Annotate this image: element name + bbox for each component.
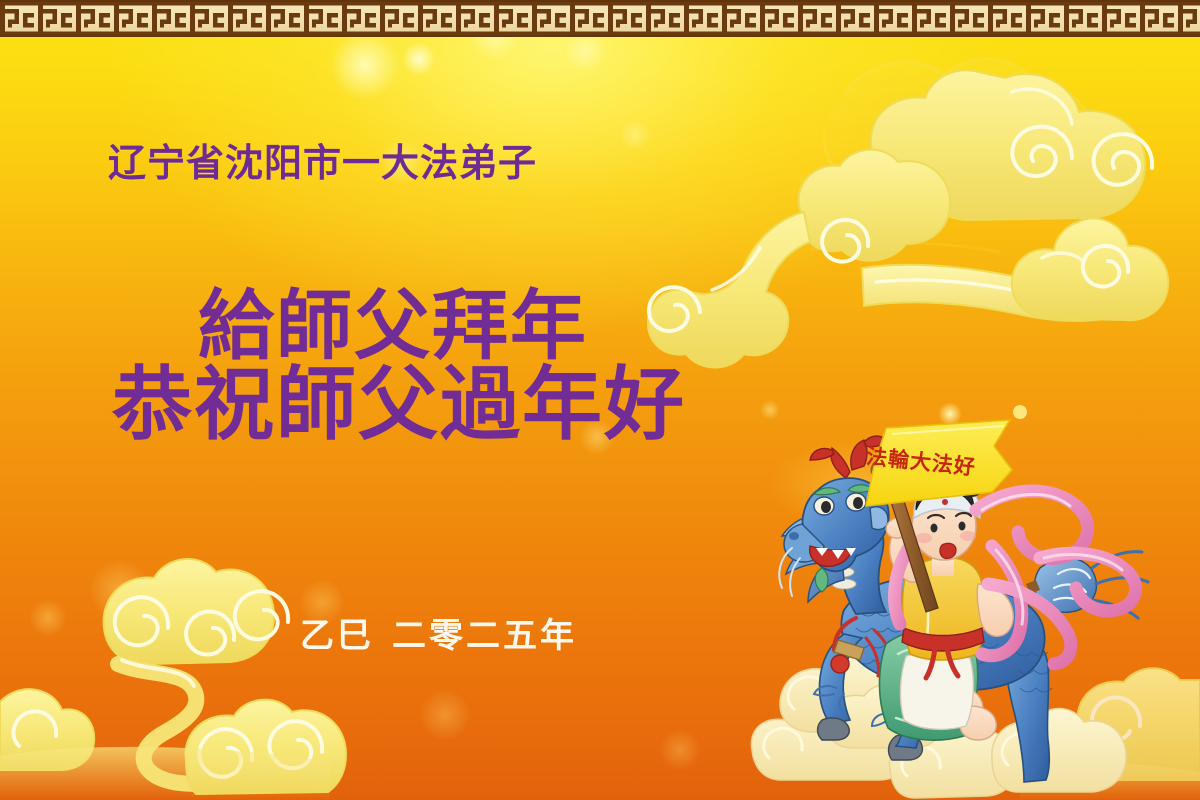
banner-flag — [866, 420, 1012, 506]
bokeh-5 — [700, 300, 726, 326]
date-line: 乙巳二零二五年 — [300, 608, 577, 657]
bokeh-9 — [30, 600, 66, 636]
auspicious-cloud-bottom-left — [0, 559, 346, 800]
meander-border — [0, 0, 1200, 37]
zodiac-year: 乙巳 — [300, 616, 374, 656]
bokeh-15 — [620, 120, 650, 150]
auspicious-cloud-top-right — [648, 70, 1168, 367]
bokeh-8 — [90, 560, 150, 620]
ghost-cloud-top-right — [800, 59, 1091, 252]
bokeh-11 — [420, 690, 470, 740]
bokeh-12 — [660, 730, 700, 770]
year-text: 二零二五年 — [392, 616, 577, 656]
sparkle-1 — [1013, 405, 1027, 419]
bokeh-2 — [402, 42, 436, 76]
bokeh-1 — [330, 30, 400, 100]
meander-pattern — [0, 0, 1200, 37]
greeting-card: 辽宁省沈阳市一大法弟子 給師父拜年 恭祝師父過年好 乙巳二零二五年 — [0, 0, 1200, 800]
origin-line: 辽宁省沈阳市一大法弟子 — [108, 132, 537, 187]
greeting-line-2: 恭祝師父過年好 — [112, 340, 686, 456]
child-riding-dragon-illustration — [740, 398, 1160, 800]
